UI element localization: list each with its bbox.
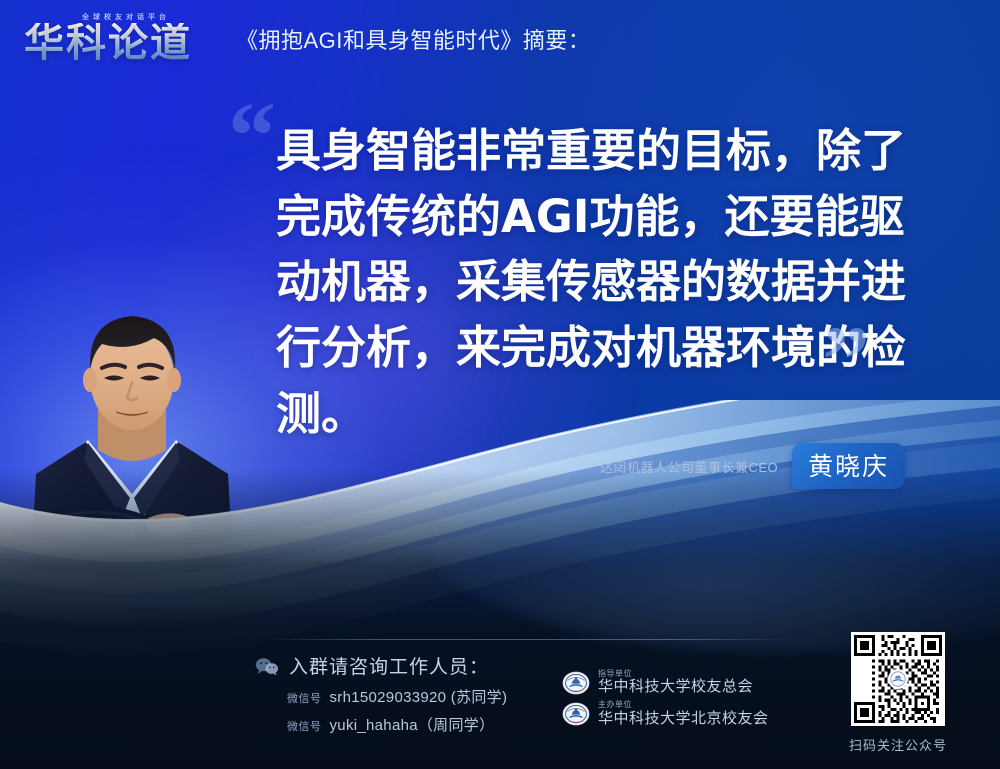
qr-center-logo-icon	[888, 669, 908, 689]
logo-wordmark: 华科论道	[24, 23, 222, 63]
qr-block: 扫码关注公众号	[843, 632, 953, 754]
contact-header: 入群请咨询工作人员：	[255, 652, 507, 679]
logo-tagline: 全球校友对话平台	[30, 12, 222, 22]
contact-block: 入群请咨询工作人员： 微信号 srh15029033920 (苏同学) 微信号 …	[255, 652, 507, 742]
qr-code-icon[interactable]	[851, 632, 945, 726]
hust-alumni-seal-icon	[562, 702, 590, 726]
footer-divider	[268, 639, 788, 640]
qr-caption: 扫码关注公众号	[843, 735, 953, 754]
organizations-block: 指导单位 华中科技大学校友总会 主办单位 华中科技大学北京校友会	[562, 670, 769, 732]
contact-value: yuki_hahaha（周同学）	[330, 714, 495, 735]
organization-row: 主办单位 华中科技大学北京校友会	[562, 701, 769, 726]
contact-row[interactable]: 微信号 yuki_hahaha（周同学）	[287, 714, 507, 735]
poster-canvas: 全球校友对话平台 华科论道 《拥抱AGI和具身智能时代》摘要： “ 具身智能非常…	[0, 0, 1000, 769]
page-title: 《拥抱AGI和具身智能时代》摘要：	[236, 23, 590, 63]
speaker-name-badge: 黄晓庆	[792, 443, 905, 489]
organization-name: 华中科技大学北京校友会	[598, 711, 769, 727]
quote-open-mark: “	[228, 88, 276, 184]
hust-alumni-seal-icon	[562, 671, 590, 695]
contact-row[interactable]: 微信号 srh15029033920 (苏同学)	[287, 686, 507, 707]
header: 全球校友对话平台 华科论道 《拥抱AGI和具身智能时代》摘要：	[24, 8, 590, 63]
contact-value: srh15029033920 (苏同学)	[330, 686, 508, 707]
wechat-icon	[255, 656, 279, 676]
speaker-role: 达闼机器人公司董事长兼CEO	[600, 457, 778, 476]
quote-close-mark: ”	[822, 312, 870, 408]
contact-title: 入群请咨询工作人员：	[289, 652, 489, 679]
contact-label: 微信号	[287, 690, 322, 706]
organization-text: 指导单位 华中科技大学校友总会	[598, 670, 753, 695]
organization-name: 华中科技大学校友总会	[598, 679, 753, 695]
attribution: 达闼机器人公司董事长兼CEO 黄晓庆	[600, 443, 905, 489]
organization-kind: 主办单位	[598, 701, 769, 709]
brand-logo[interactable]: 全球校友对话平台 华科论道	[24, 8, 222, 63]
organization-row: 指导单位 华中科技大学校友总会	[562, 670, 769, 695]
organization-text: 主办单位 华中科技大学北京校友会	[598, 701, 769, 726]
organization-kind: 指导单位	[598, 670, 753, 678]
contact-label: 微信号	[287, 718, 322, 734]
